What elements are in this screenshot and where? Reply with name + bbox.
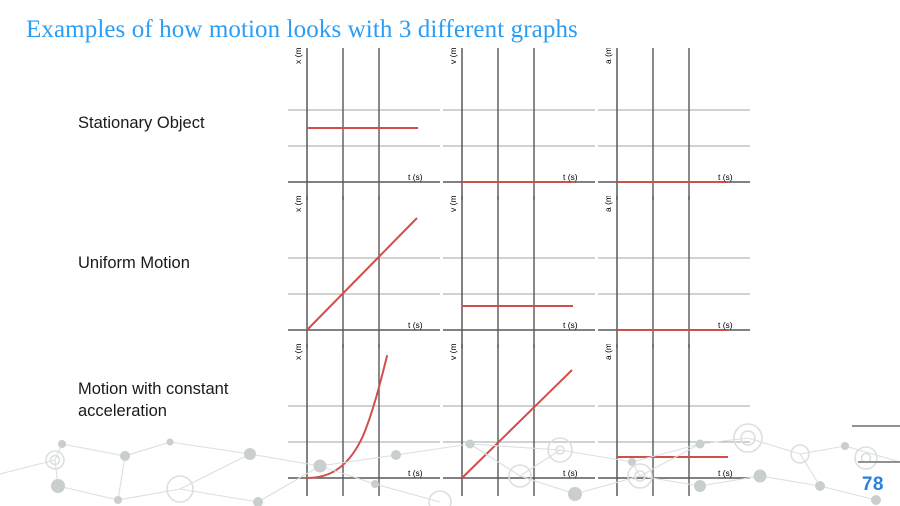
graph-svg-stationary-acceleration: a (m*s^-2) t (s) (598, 48, 750, 200)
y-axis-label: a (m*s^-2) (603, 48, 613, 64)
data-curve (462, 370, 572, 478)
graph-accel-velocity: v (m*s^-1) t (s) (443, 344, 595, 496)
horizontal-gridlines (443, 406, 595, 442)
graph-svg-accel-displacement: x (m) t (s) (288, 344, 440, 496)
x-axis-label: t (s) (718, 172, 733, 182)
graph-svg-uniform-velocity: v (m*s^-1) t (s) (443, 196, 595, 348)
y-axis-label: x (m) (293, 196, 303, 212)
vertical-gridlines (653, 48, 689, 200)
y-axis-label: v (m*s^-1) (448, 196, 458, 212)
graph-stationary-velocity: v (m*s^-1) t (s) (443, 48, 595, 200)
graph-svg-stationary-velocity: v (m*s^-1) t (s) (443, 48, 595, 200)
x-axis-label: t (s) (563, 468, 578, 478)
graph-svg-uniform-displacement: x (m) t (s) (288, 196, 440, 348)
graph-svg-accel-velocity: v (m*s^-1) t (s) (443, 344, 595, 496)
graph-svg-accel-acceleration: a (m*s^-2) t (s) (598, 344, 750, 496)
x-axis-label: t (s) (408, 468, 423, 478)
data-curve (307, 356, 387, 478)
page-number: 78 (862, 474, 884, 496)
y-axis-label: a (m*s^-2) (603, 196, 613, 212)
y-axis-label: v (m*s^-1) (448, 48, 458, 64)
graph-uniform-displacement: x (m) t (s) (288, 196, 440, 348)
vertical-gridlines (653, 196, 689, 348)
horizontal-gridlines (598, 258, 750, 294)
vertical-gridlines (498, 344, 534, 496)
graph-accel-acceleration: a (m*s^-2) t (s) (598, 344, 750, 496)
graph-stationary-acceleration: a (m*s^-2) t (s) (598, 48, 750, 200)
x-axis-label: t (s) (718, 320, 733, 330)
x-axis-label: t (s) (408, 172, 423, 182)
vertical-gridlines (343, 344, 379, 496)
graph-matrix: x (m) t (s) v (m*s^-1) t (s) (0, 0, 900, 506)
y-axis-label: x (m) (293, 344, 303, 360)
horizontal-gridlines (288, 258, 440, 294)
y-axis-label: x (m) (293, 48, 303, 64)
x-axis-label: t (s) (408, 320, 423, 330)
slide: Examples of how motion looks with 3 diff… (0, 0, 900, 506)
horizontal-gridlines (288, 406, 440, 442)
x-axis-label: t (s) (563, 320, 578, 330)
horizontal-gridlines (598, 110, 750, 146)
graph-svg-stationary-displacement: x (m) t (s) (288, 48, 440, 200)
vertical-gridlines (498, 196, 534, 348)
vertical-gridlines (343, 48, 379, 200)
x-axis-label: t (s) (718, 468, 733, 478)
data-curve (307, 218, 417, 330)
graph-stationary-displacement: x (m) t (s) (288, 48, 440, 200)
x-axis-label: t (s) (563, 172, 578, 182)
horizontal-gridlines (598, 406, 750, 442)
vertical-gridlines (653, 344, 689, 496)
vertical-gridlines (343, 196, 379, 348)
y-axis-label: v (m*s^-1) (448, 344, 458, 360)
graph-uniform-velocity: v (m*s^-1) t (s) (443, 196, 595, 348)
graph-uniform-acceleration: a (m*s^-2) t (s) (598, 196, 750, 348)
graph-accel-displacement: x (m) t (s) (288, 344, 440, 496)
graph-svg-uniform-acceleration: a (m*s^-2) t (s) (598, 196, 750, 348)
horizontal-gridlines (443, 110, 595, 146)
vertical-gridlines (498, 48, 534, 200)
horizontal-gridlines (443, 258, 595, 294)
y-axis-label: a (m*s^-2) (603, 344, 613, 360)
